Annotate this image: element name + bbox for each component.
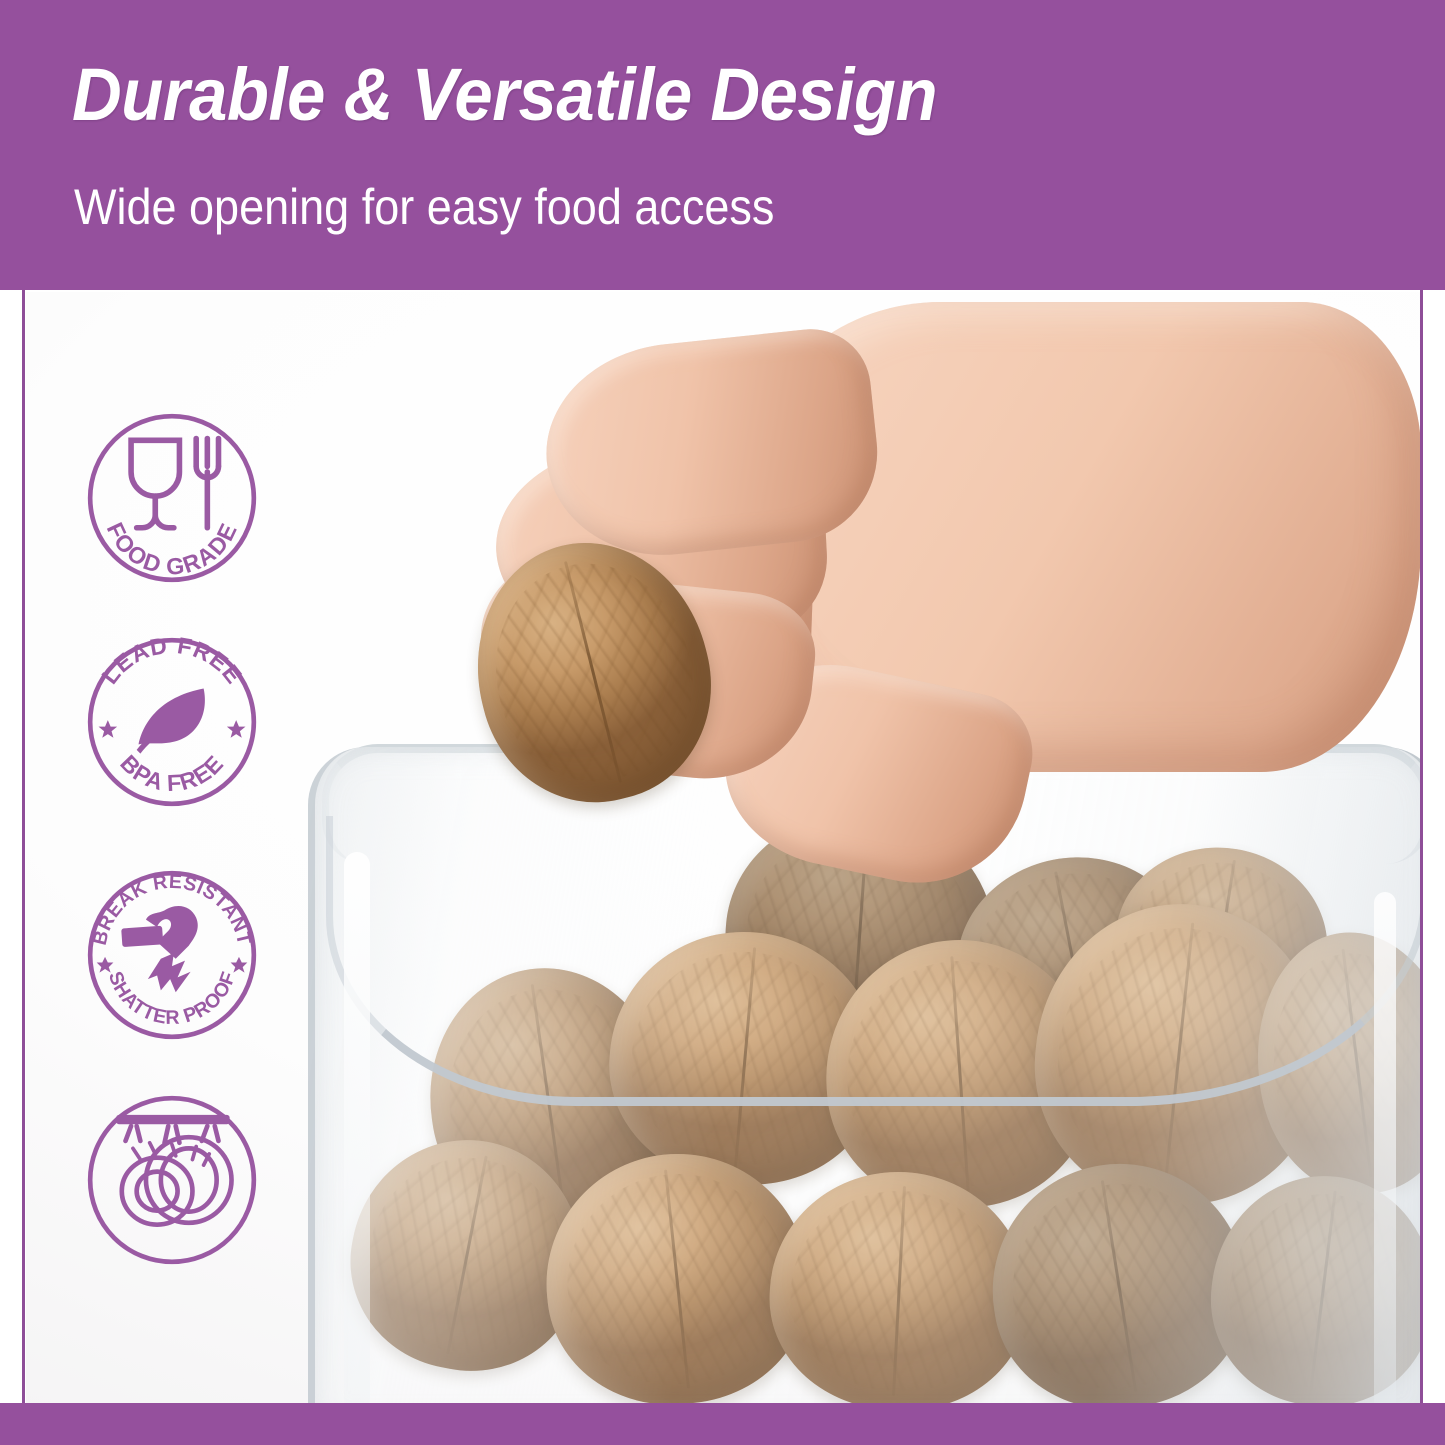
star-icon-right — [227, 720, 246, 738]
badge-arc-bottom-label: BPA FREE — [115, 750, 228, 796]
footer-banner — [0, 1403, 1445, 1445]
header-banner: Durable & Versatile Design Wide opening … — [0, 0, 1445, 290]
badge-break-resistant: BREAK RESISTANT SHATTER PROOF — [79, 862, 265, 1048]
badge-arc-label: DISHWASHER SAFE — [164, 1266, 265, 1273]
wine-glass-and-fork-icon — [131, 438, 218, 527]
page-subtitle: Wide opening for easy food access — [74, 182, 774, 232]
page-title: Durable & Versatile Design — [72, 58, 937, 132]
leaf-icon — [137, 689, 205, 754]
hammer-and-crack-icon — [121, 906, 198, 992]
frame-rule-right — [1420, 290, 1423, 1403]
product-feature-image: Durable & Versatile Design Wide opening … — [0, 0, 1445, 1445]
star-icon-right — [231, 957, 248, 973]
badge-dishwasher-safe: DISHWASHER SAFE — [79, 1087, 265, 1273]
star-icon-left — [99, 720, 118, 738]
badge-arc-top-label: LEAD FREE — [96, 632, 247, 689]
badge-food-grade: FOOD GRADE — [79, 405, 265, 591]
frame-rule-left — [22, 290, 25, 1403]
badge-lead-bpa-free: LEAD FREE BPA FREE — [79, 629, 265, 815]
star-icon-left — [97, 957, 114, 973]
dishwasher-spray-plates-icon — [116, 1115, 231, 1225]
